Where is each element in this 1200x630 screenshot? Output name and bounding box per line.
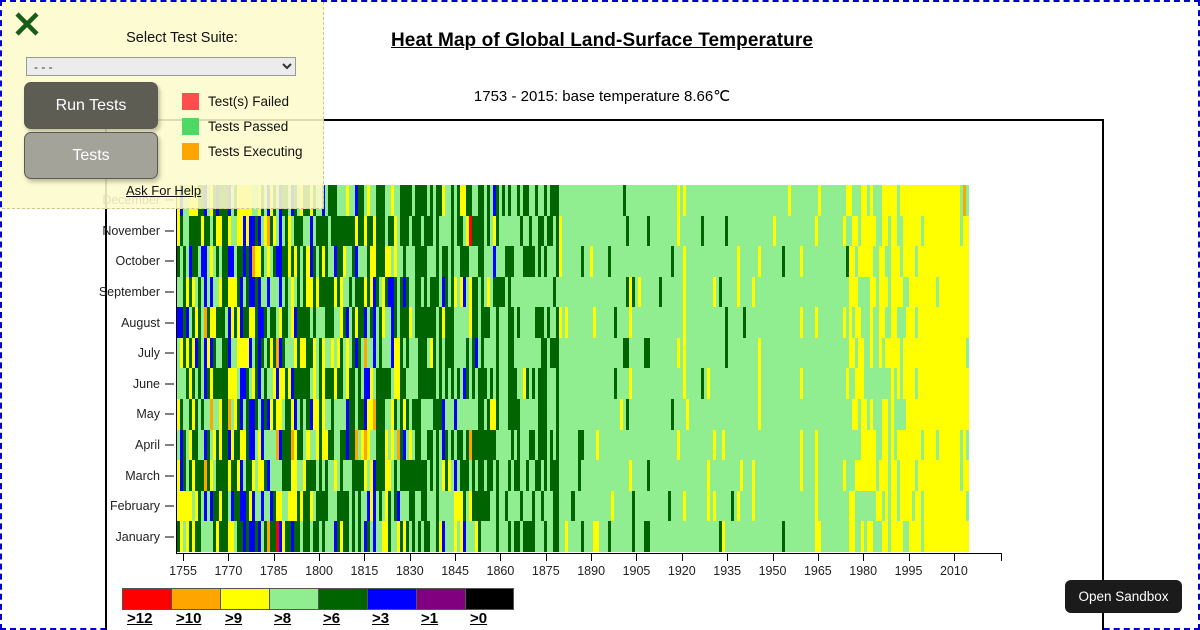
heatmap-cell bbox=[966, 460, 969, 491]
legend-label-gt6: >6 bbox=[323, 610, 340, 627]
y-tick-label-may: May bbox=[136, 407, 160, 421]
x-tick-mark bbox=[455, 553, 456, 561]
legend-swatch-gt9 bbox=[220, 588, 269, 610]
y-tick-mark bbox=[165, 353, 174, 354]
x-axis-end-tick bbox=[1001, 553, 1002, 561]
y-tick-mark bbox=[165, 536, 174, 537]
x-tick-label-1995: 1995 bbox=[895, 564, 923, 578]
test-suite-select[interactable]: - - - bbox=[26, 57, 296, 76]
x-tick-mark bbox=[682, 553, 683, 561]
y-tick-mark bbox=[165, 292, 174, 293]
status-swatch bbox=[182, 118, 199, 135]
y-tick-label-june: June bbox=[133, 377, 160, 391]
y-tick-mark bbox=[165, 230, 174, 231]
x-tick-label-1860: 1860 bbox=[487, 564, 515, 578]
x-tick-label-1785: 1785 bbox=[260, 564, 288, 578]
heatmap-cell bbox=[966, 338, 969, 369]
x-tick-label-1965: 1965 bbox=[804, 564, 832, 578]
x-tick-mark bbox=[909, 553, 910, 561]
status-swatch bbox=[182, 143, 199, 160]
ask-for-help-link[interactable]: Ask For Help bbox=[126, 183, 201, 198]
legend-label-gt10: >10 bbox=[176, 610, 201, 627]
y-axis-line bbox=[176, 185, 177, 553]
y-tick-label-april: April bbox=[135, 438, 160, 452]
x-tick-label-1800: 1800 bbox=[305, 564, 333, 578]
x-tick-mark bbox=[636, 553, 637, 561]
legend-label-gt0: >0 bbox=[470, 610, 487, 627]
legend-swatch-gt3 bbox=[367, 588, 416, 610]
run-tests-button[interactable]: Run Tests bbox=[24, 82, 158, 129]
x-tick-mark bbox=[727, 553, 728, 561]
y-tick-mark bbox=[165, 444, 174, 445]
heatmap-cell bbox=[966, 246, 969, 277]
heatmap-cell bbox=[966, 521, 969, 552]
x-tick-mark bbox=[863, 553, 864, 561]
x-tick-mark bbox=[818, 553, 819, 561]
test-suite-panel: Select Test Suite: - - - Run Tests Tests… bbox=[2, 2, 324, 209]
heatmap-cell bbox=[966, 368, 969, 399]
x-tick-mark bbox=[410, 553, 411, 561]
status-label: Tests Executing bbox=[208, 144, 303, 159]
x-tick-label-1905: 1905 bbox=[623, 564, 651, 578]
heatmap-year-column bbox=[966, 185, 969, 552]
legend-label-gt9: >9 bbox=[225, 610, 242, 627]
page-root: Heat Map of Global Land-Surface Temperat… bbox=[0, 0, 1200, 630]
status-row: Tests Passed bbox=[182, 117, 288, 135]
x-tick-mark bbox=[546, 553, 547, 561]
y-tick-label-october: October bbox=[116, 254, 160, 268]
y-tick-label-november: November bbox=[102, 224, 160, 238]
status-label: Test(s) Failed bbox=[208, 94, 289, 109]
y-tick-label-february: February bbox=[110, 499, 160, 513]
y-tick-mark bbox=[165, 383, 174, 384]
y-tick-mark bbox=[165, 506, 174, 507]
heatmap-cell bbox=[966, 491, 969, 522]
legend-label-gt1: >1 bbox=[421, 610, 438, 627]
x-tick-mark bbox=[364, 553, 365, 561]
legend-swatch-gt10 bbox=[171, 588, 220, 610]
status-swatch bbox=[182, 93, 199, 110]
x-tick-label-1890: 1890 bbox=[577, 564, 605, 578]
x-tick-mark bbox=[500, 553, 501, 561]
y-tick-label-august: August bbox=[121, 316, 160, 330]
legend-swatch-gt6 bbox=[318, 588, 367, 610]
y-axis-months: DecemberNovemberOctoberSeptemberAugustJu… bbox=[62, 185, 177, 552]
panel-heading: Select Test Suite: bbox=[62, 30, 302, 46]
x-axis-line bbox=[176, 553, 1002, 554]
legend-swatch-gt8 bbox=[269, 588, 318, 610]
heatmap-cell bbox=[966, 307, 969, 338]
close-x-icon[interactable] bbox=[13, 10, 41, 38]
y-tick-mark bbox=[165, 414, 174, 415]
x-tick-label-1815: 1815 bbox=[351, 564, 379, 578]
x-tick-mark bbox=[591, 553, 592, 561]
color-legend bbox=[122, 588, 514, 610]
x-tick-mark bbox=[274, 553, 275, 561]
legend-label-gt12: >12 bbox=[127, 610, 152, 627]
x-tick-mark bbox=[183, 553, 184, 561]
y-tick-mark bbox=[165, 475, 174, 476]
x-tick-mark bbox=[319, 553, 320, 561]
y-tick-label-january: January bbox=[116, 530, 160, 544]
y-tick-label-march: March bbox=[125, 469, 160, 483]
heatmap-cell bbox=[966, 430, 969, 461]
x-tick-label-1875: 1875 bbox=[532, 564, 560, 578]
legend-label-gt8: >8 bbox=[274, 610, 291, 627]
status-row: Tests Executing bbox=[182, 142, 303, 160]
y-tick-label-september: September bbox=[99, 285, 160, 299]
x-tick-label-1830: 1830 bbox=[396, 564, 424, 578]
heatmap-cell bbox=[966, 277, 969, 308]
heatmap-plot-area[interactable] bbox=[177, 185, 969, 552]
heatmap-cell bbox=[966, 185, 969, 216]
legend-swatch-gt0 bbox=[465, 588, 514, 610]
x-tick-label-1980: 1980 bbox=[849, 564, 877, 578]
y-tick-mark bbox=[165, 261, 174, 262]
tests-button[interactable]: Tests bbox=[24, 132, 158, 179]
heatmap-cell bbox=[966, 399, 969, 430]
open-sandbox-button[interactable]: Open Sandbox bbox=[1065, 580, 1182, 613]
x-tick-label-1755: 1755 bbox=[169, 564, 197, 578]
x-tick-mark bbox=[954, 553, 955, 561]
y-tick-mark bbox=[165, 322, 174, 323]
status-row: Test(s) Failed bbox=[182, 92, 289, 110]
x-tick-mark bbox=[773, 553, 774, 561]
status-label: Tests Passed bbox=[208, 119, 288, 134]
x-tick-label-2010: 2010 bbox=[940, 564, 968, 578]
heatmap-cell bbox=[966, 216, 969, 247]
y-tick-label-july: July bbox=[138, 346, 160, 360]
legend-label-gt3: >3 bbox=[372, 610, 389, 627]
x-tick-label-1950: 1950 bbox=[759, 564, 787, 578]
x-tick-label-1845: 1845 bbox=[441, 564, 469, 578]
legend-swatch-gt1 bbox=[416, 588, 465, 610]
x-tick-label-1935: 1935 bbox=[713, 564, 741, 578]
x-tick-mark bbox=[228, 553, 229, 561]
legend-swatch-gt12 bbox=[122, 588, 171, 610]
x-tick-label-1770: 1770 bbox=[214, 564, 242, 578]
x-tick-label-1920: 1920 bbox=[668, 564, 696, 578]
